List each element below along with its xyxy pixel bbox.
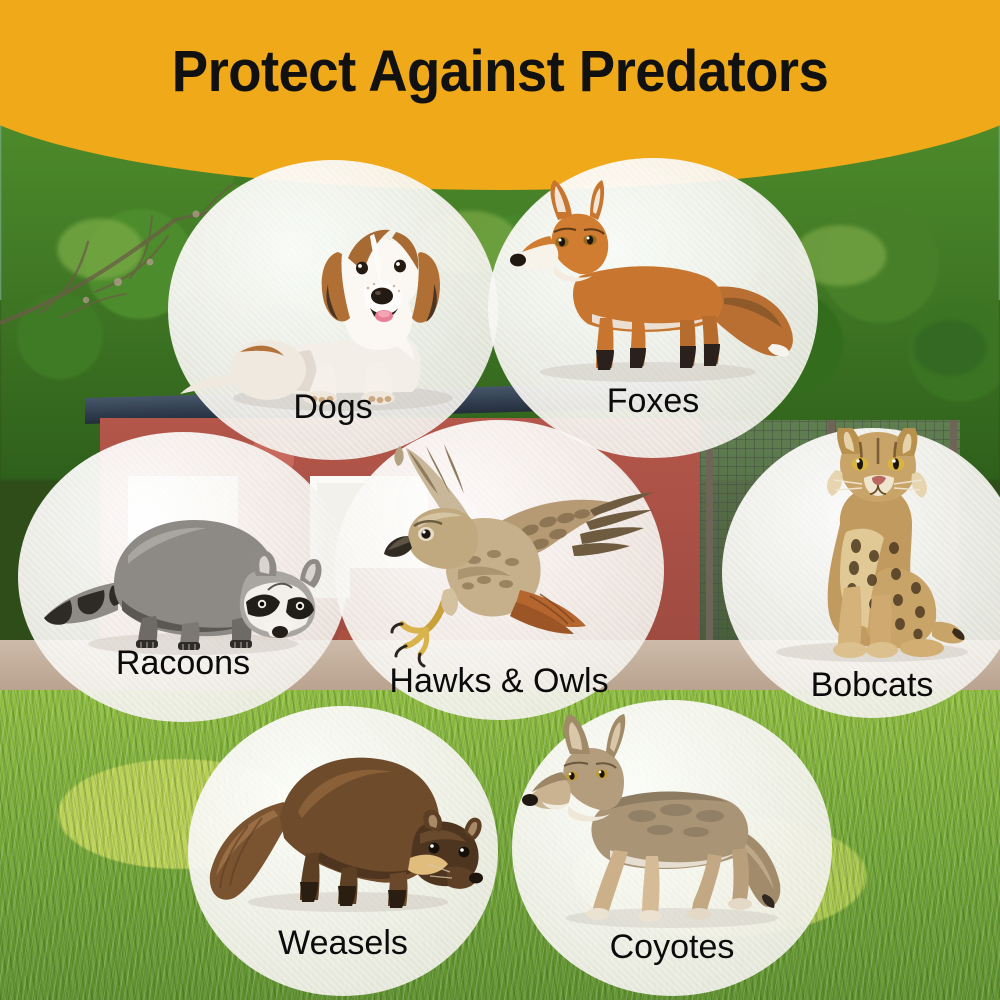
predator-card-hawks-owls[interactable]: Hawks & Owls xyxy=(334,420,664,720)
predator-label: Hawks & Owls xyxy=(334,662,664,700)
predator-label: Weasels xyxy=(188,924,498,962)
predator-infographic: Protect Against Predators xyxy=(0,0,1000,1000)
predator-card-bobcats[interactable]: Bobcats xyxy=(722,428,1000,718)
predator-label: Racoons xyxy=(18,644,348,682)
predator-label: Bobcats xyxy=(722,666,1000,704)
page-title: Protect Against Predators xyxy=(30,40,970,104)
predator-card-foxes[interactable]: Foxes xyxy=(488,158,818,458)
predator-card-racoons[interactable]: Racoons xyxy=(18,432,348,722)
predator-card-coyotes[interactable]: Coyotes xyxy=(512,700,832,996)
predator-label: Foxes xyxy=(488,382,818,420)
predator-card-weasels[interactable]: Weasels xyxy=(188,706,498,996)
predator-card-dogs[interactable]: Dogs xyxy=(168,160,498,460)
lawn-grass xyxy=(0,690,1000,1000)
predator-label: Coyotes xyxy=(512,928,832,966)
